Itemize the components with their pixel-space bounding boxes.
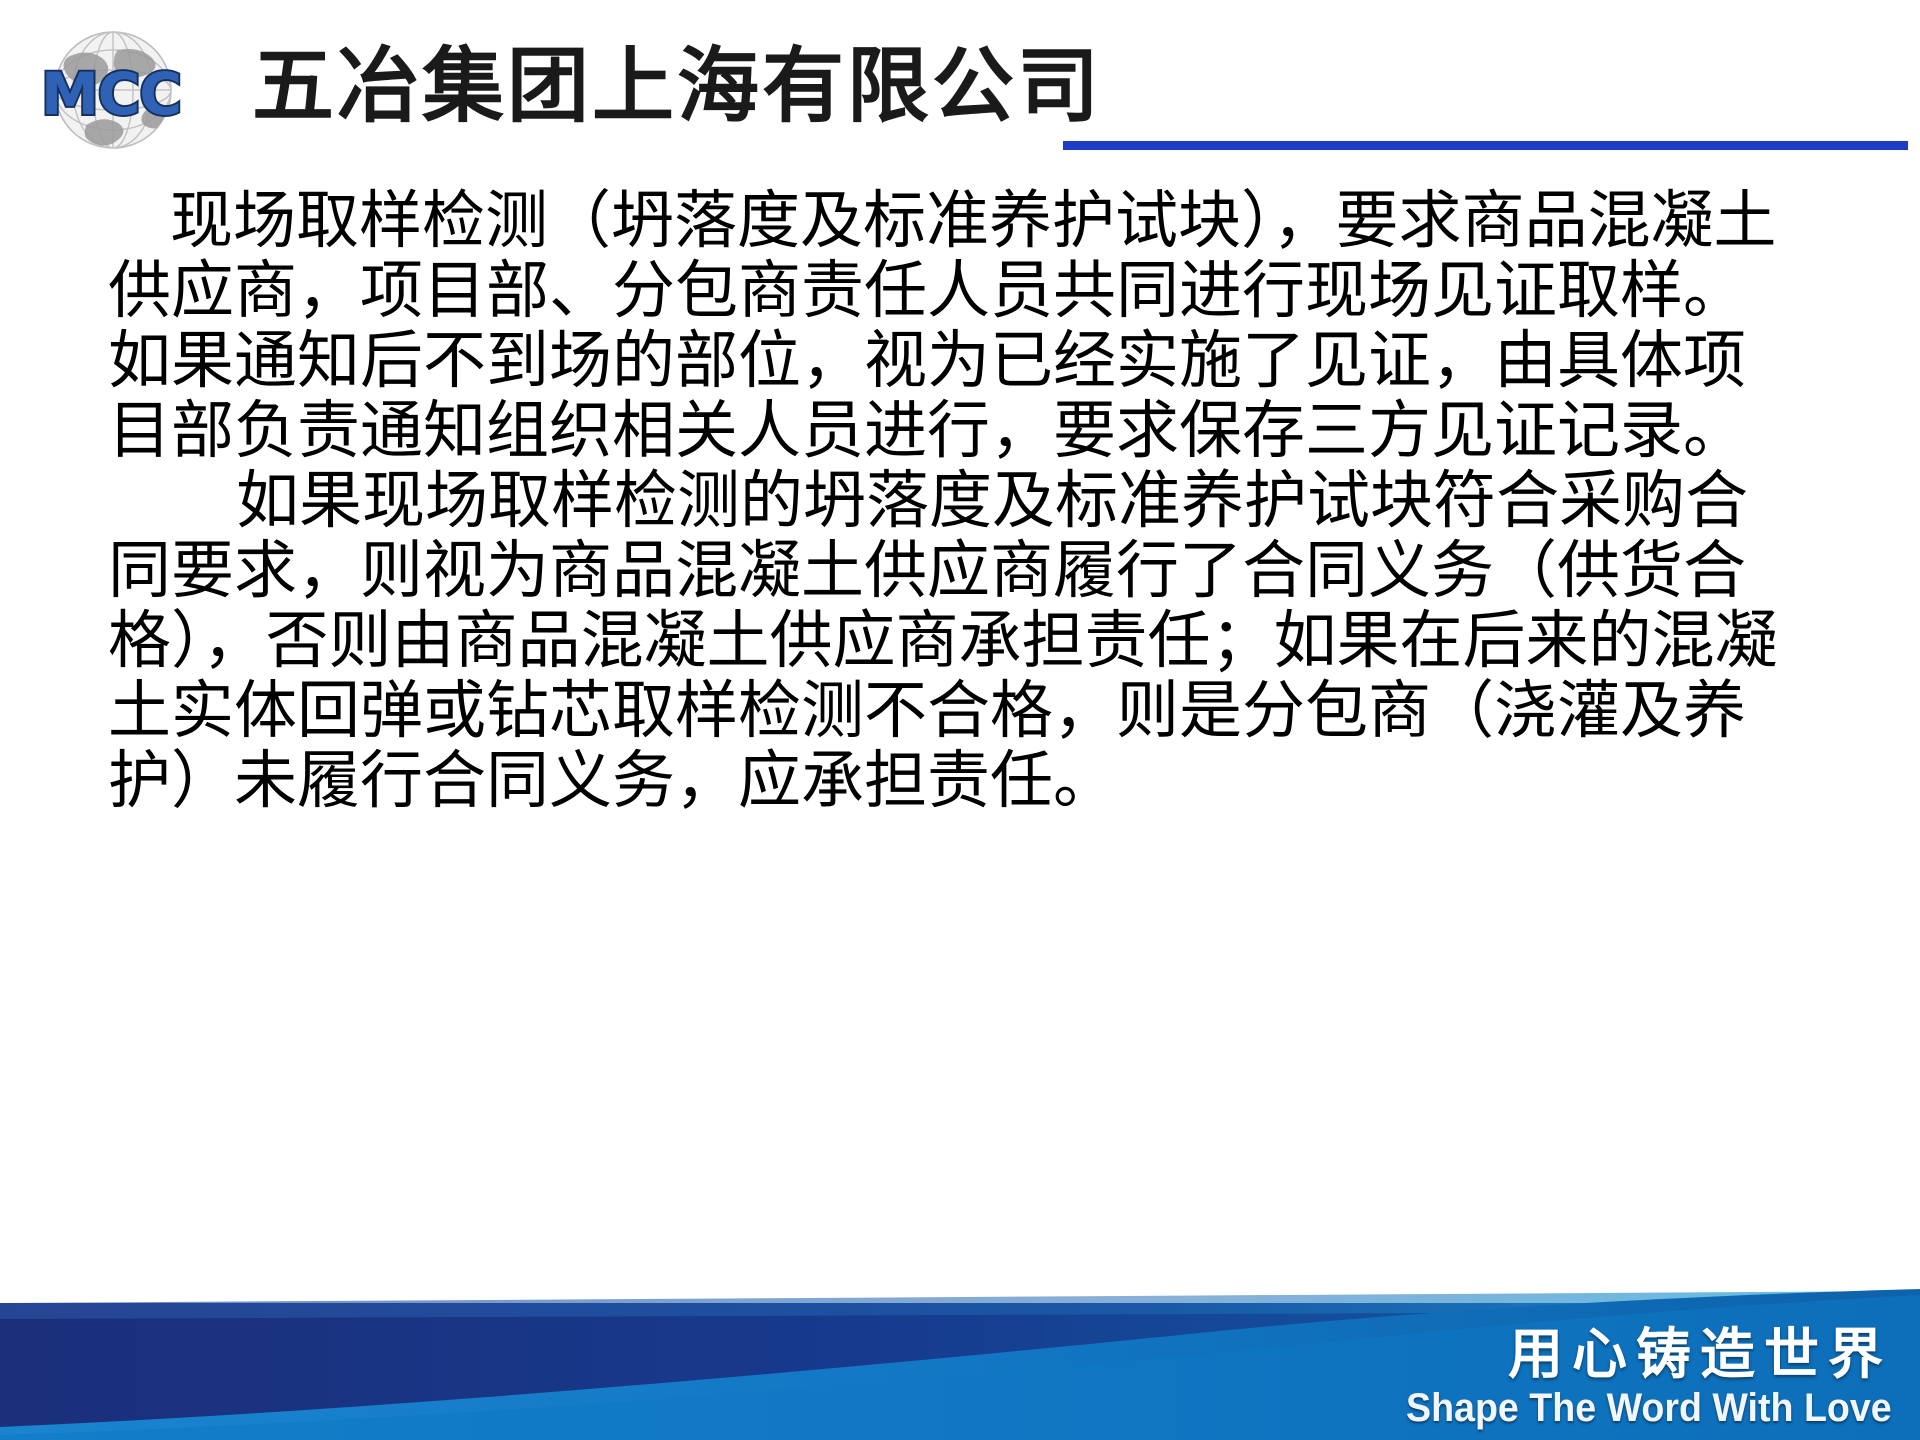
body-paragraph-1: 现场取样检测（坍落度及标准养护试块），要求商品混凝土供应商，项目部、分包商责任人…	[108, 186, 1788, 466]
slide-footer: 用心铸造世界 Shape The Word With Love	[0, 1285, 1920, 1440]
globe-icon: MCC MCC	[18, 26, 208, 154]
svg-text:MCC: MCC	[41, 60, 181, 128]
footer-band-graphic	[0, 1285, 1920, 1440]
slide: MCC MCC 五冶集团上海有限公司 现场取样检测（坍落度及标准养护试块），要求…	[0, 0, 1920, 1440]
page-title: 五冶集团上海有限公司	[252, 38, 1102, 136]
mcc-wordmark: MCC MCC	[41, 60, 181, 128]
slide-header: MCC MCC 五冶集团上海有限公司	[0, 0, 1920, 175]
header-divider	[1063, 141, 1908, 150]
slide-body: 现场取样检测（坍落度及标准养护试块），要求商品混凝土供应商，项目部、分包商责任人…	[108, 186, 1788, 816]
mcc-logo: MCC MCC	[18, 26, 208, 154]
body-paragraph-2: 如果现场取样检测的坍落度及标准养护试块符合采购合同要求，则视为商品混凝土供应商履…	[108, 466, 1788, 816]
